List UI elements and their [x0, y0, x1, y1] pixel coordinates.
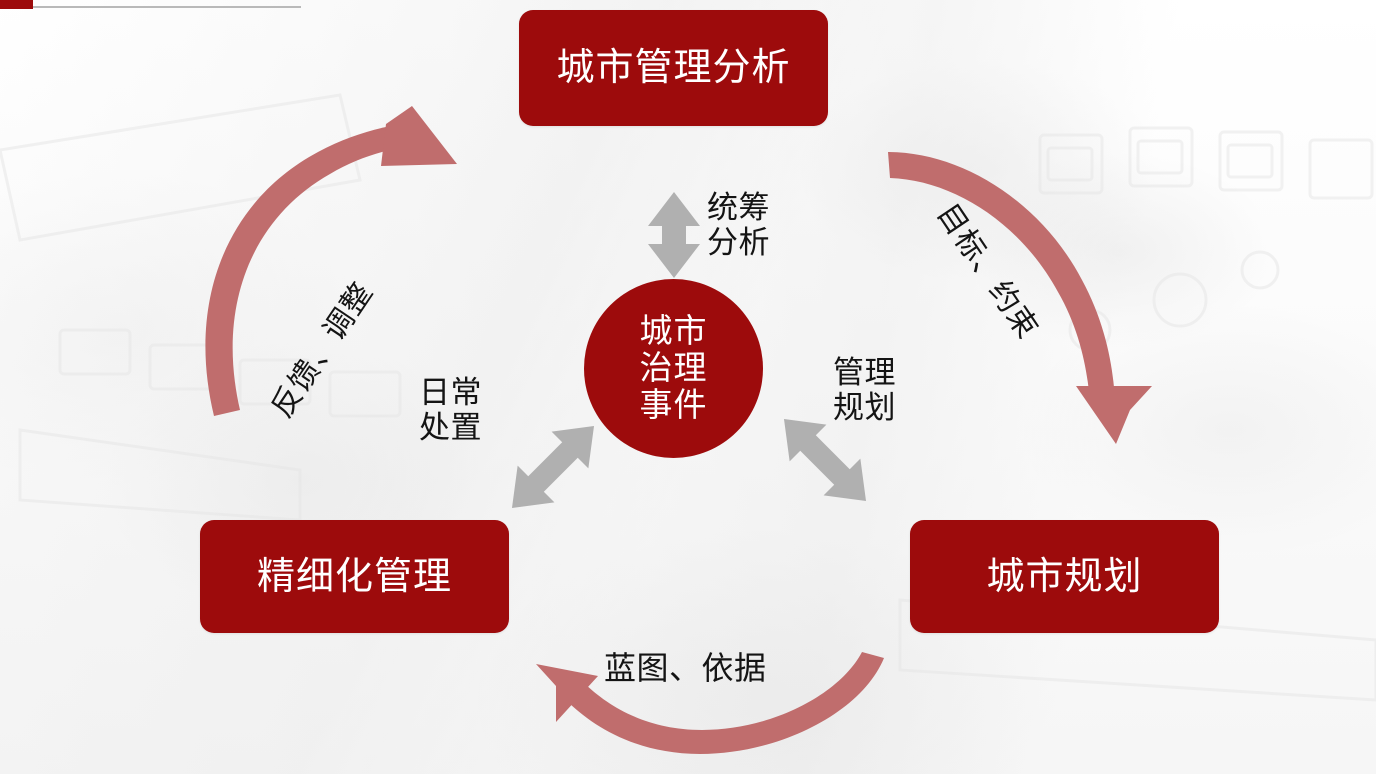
- edge-label-blueprint-basis: 蓝图、依据: [604, 650, 767, 686]
- edge-label-goal-constraint: 目标、约束: [929, 193, 1052, 346]
- double-arrow-diagonal-ne-sw: [494, 408, 613, 527]
- top-left-gray-rule: [33, 6, 301, 8]
- curved-arrow-bottom-head: [536, 664, 598, 722]
- double-arrow-vertical: [648, 192, 700, 278]
- node-box-city-management-analysis[interactable]: 城市管理分析: [519, 10, 828, 126]
- curved-arrow-left-head: [381, 106, 457, 166]
- edge-label-feedback-adjustment: 反馈、调整: [258, 271, 381, 424]
- node-label-bottom-left: 精细化管理: [257, 558, 452, 596]
- edge-label-coordination-analysis: 统筹 分析: [707, 190, 770, 261]
- node-box-city-planning[interactable]: 城市规划: [910, 520, 1219, 633]
- slide-canvas: 城市管理分析 精细化管理 城市规划 城市 治理 事件 统筹 分析 日常 处置 管…: [0, 0, 1376, 774]
- node-label-top: 城市管理分析: [556, 49, 790, 87]
- edge-label-daily-handling: 日常 处置: [419, 375, 482, 446]
- node-box-refined-management[interactable]: 精细化管理: [200, 520, 509, 633]
- center-circle-line-3: 事件: [640, 387, 708, 424]
- top-left-red-rule: [0, 0, 33, 9]
- node-label-bottom-right: 城市规划: [986, 558, 1142, 596]
- edge-label-management-planning: 管理 规划: [833, 355, 896, 426]
- center-circle-city-governance-events[interactable]: 城市 治理 事件: [584, 279, 763, 458]
- center-circle-line-2: 治理: [640, 350, 708, 387]
- curved-arrow-right-head: [1076, 386, 1152, 444]
- center-circle-line-1: 城市: [640, 313, 708, 350]
